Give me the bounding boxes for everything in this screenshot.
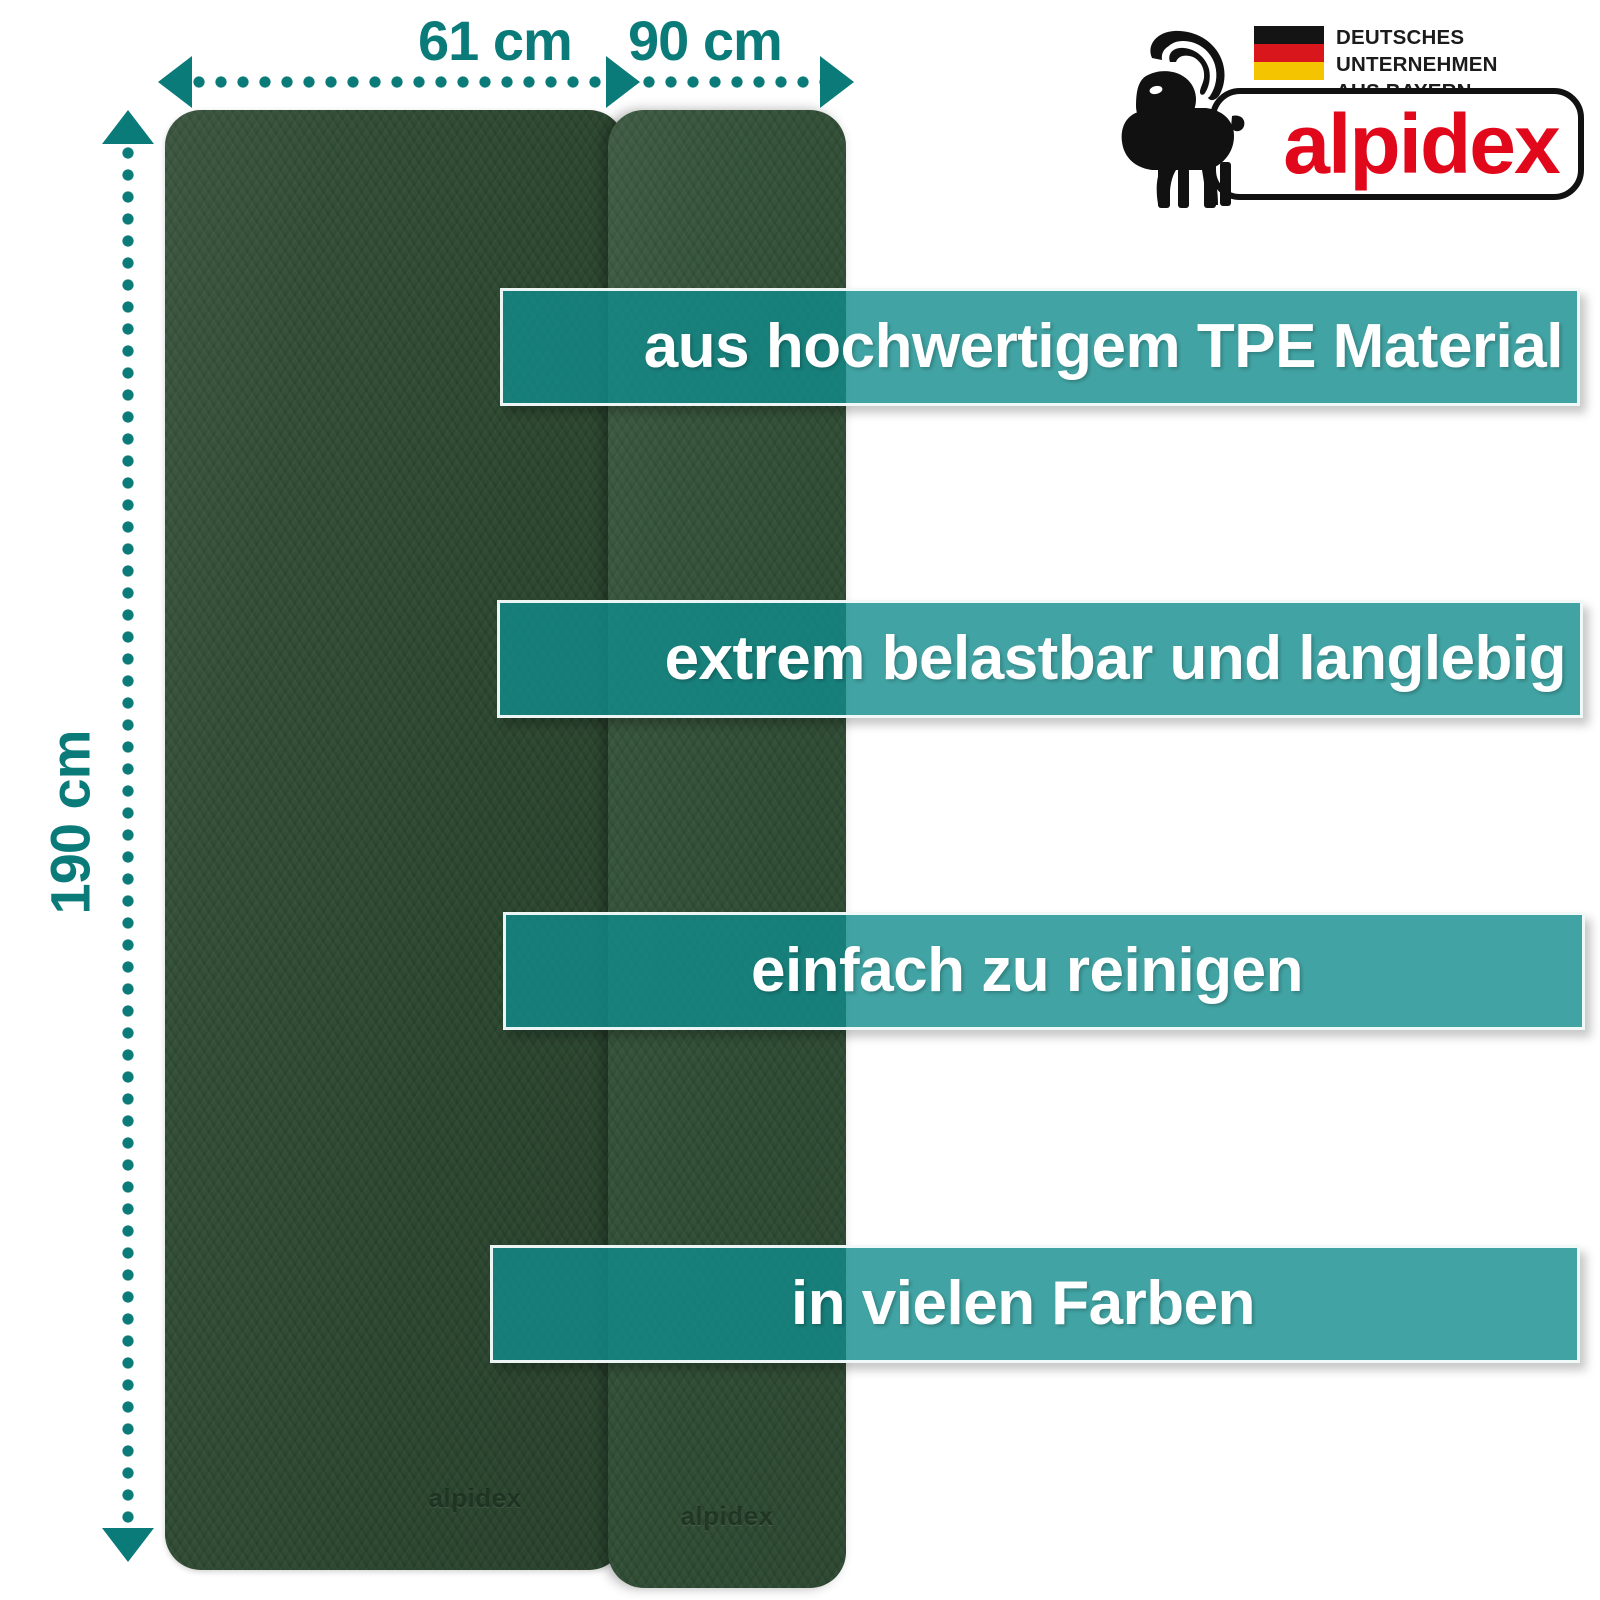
brand-name-text: alpidex [1216, 102, 1578, 186]
brand-name-pill: alpidex [1210, 88, 1584, 200]
dimension-label-width-left: 61 cm [418, 8, 572, 73]
feature-banner-4-label: in vielen Farben [493, 1271, 1577, 1336]
mat-brand-emboss-left: alpidex [325, 1483, 625, 1514]
dimension-arrowhead-left [158, 56, 192, 108]
dimension-label-width-right: 90 cm [628, 8, 782, 73]
feature-banner-2-label: extrem belastbar und langlebig [500, 626, 1580, 691]
brand-logo: DEUTSCHES UNTERNEHMEN AUS BAYERN alpidex [1108, 18, 1586, 210]
dimension-label-height: 190 cm [37, 731, 102, 915]
dimension-line-height [121, 146, 135, 1530]
dimension-line-width-right [642, 75, 824, 89]
feature-banner-3-label: einfach zu reinigen [506, 938, 1582, 1003]
feature-banner-4: in vielen Farben [490, 1245, 1580, 1363]
ibex-goat-icon [1116, 24, 1266, 210]
feature-banner-1-label: aus hochwertigem TPE Material [503, 314, 1577, 379]
dimension-arrowhead-right [820, 56, 854, 108]
feature-banner-3: einfach zu reinigen [503, 912, 1585, 1030]
product-infographic: alpidex alpidex 61 cm 90 cm 190 cm aus h… [0, 0, 1600, 1600]
feature-banner-2: extrem belastbar und langlebig [497, 600, 1583, 718]
feature-banner-1: aus hochwertigem TPE Material [500, 288, 1580, 406]
brand-claim-line-1: DEUTSCHES UNTERNEHMEN [1336, 24, 1586, 78]
dimension-arrowhead-bottom [102, 1528, 154, 1562]
dimension-line-width-left [192, 75, 610, 89]
mat-brand-emboss-right: alpidex [608, 1501, 846, 1532]
dimension-arrowhead-top [102, 110, 154, 144]
